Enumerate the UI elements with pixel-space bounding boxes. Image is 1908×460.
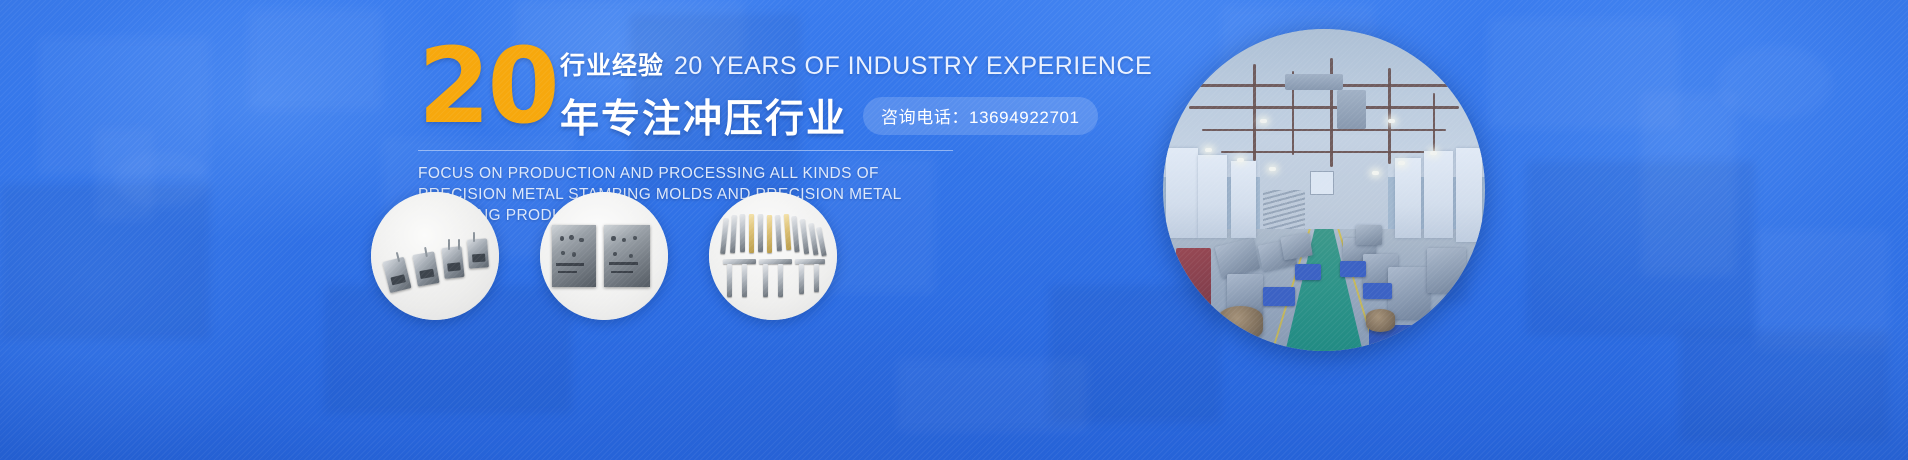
years-number: 20 [418,38,557,134]
headline-text-group: 行业经验 20 YEARS OF INDUSTRY EXPERIENCE 年专注… [560,46,1152,144]
product-3-backdrop [709,192,837,320]
focus-line: 年专注冲压行业 咨询电话：13694922701 [560,88,1152,144]
description-text: FOCUS ON PRODUCTION AND PROCESSING ALL K… [418,163,963,226]
experience-cn-label: 行业经验 [560,46,664,82]
experience-line: 行业经验 20 YEARS OF INDUSTRY EXPERIENCE [560,46,1152,82]
focus-cn-label: 年专注冲压行业 [560,88,847,144]
factory-photo [1163,29,1485,351]
product-photo-stamping-molds [540,192,668,320]
headline-row: 20 行业经验 20 YEARS OF INDUSTRY EXPERIENCE … [418,44,1098,136]
experience-en-label: 20 YEARS OF INDUSTRY EXPERIENCE [674,52,1152,81]
product-photo-connectors [371,192,499,320]
product-1-backdrop [371,192,499,320]
factory-scene [1163,29,1485,351]
product-2-backdrop [540,192,668,320]
promo-banner: 20 行业经验 20 YEARS OF INDUSTRY EXPERIENCE … [0,0,1908,460]
product-photo-terminals [709,192,837,320]
divider-line [418,150,953,151]
phone-badge[interactable]: 咨询电话：13694922701 [863,97,1098,135]
